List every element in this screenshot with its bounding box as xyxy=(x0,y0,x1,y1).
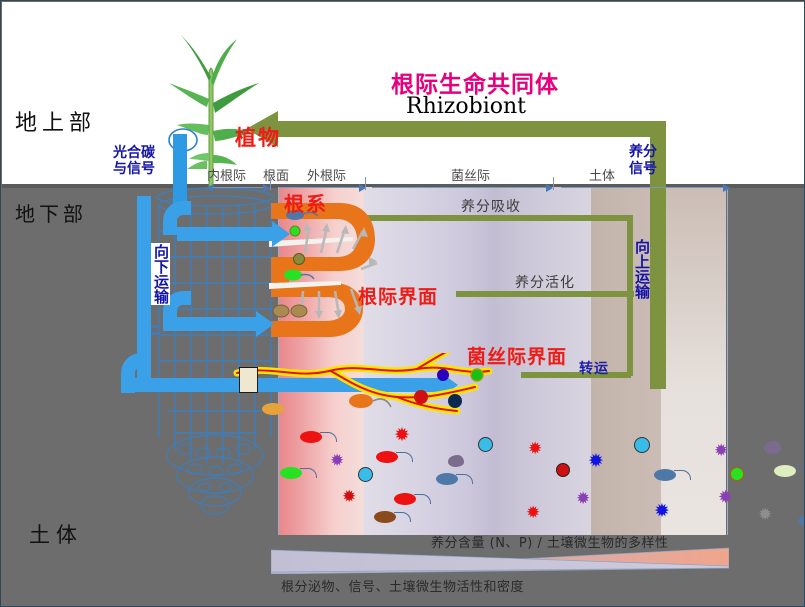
flagellum xyxy=(794,466,805,476)
star-microbe-icon: ✹ xyxy=(758,507,772,524)
coccus-microbe-icon xyxy=(478,437,493,452)
coccus-microbe-icon xyxy=(556,463,570,477)
bacterium-flagellum-icon xyxy=(436,473,458,485)
zone-label-rhizoplane: 根面 xyxy=(263,165,289,184)
bacterium-flagellum-icon xyxy=(654,469,676,481)
flagellum xyxy=(456,474,473,484)
carbon-flow-arrow-2 xyxy=(177,317,257,331)
bacterium-flagellum-icon xyxy=(300,431,322,443)
label-photosynthate-line2: 与信号 xyxy=(113,161,155,177)
label-hyphosphere-interface: 菌丝际界面 xyxy=(467,342,567,369)
label-exudate-gradient: 根分泌物、信号、土壤微生物活性和密度 xyxy=(281,576,524,595)
bacterium-body xyxy=(798,515,805,527)
label-root-system: 根系 xyxy=(284,188,328,217)
label-nutrient-uptake: 养分吸收 xyxy=(461,196,521,216)
star-microbe-icon: ✹ xyxy=(588,453,604,470)
label-nutrient-signal: 养分 信号 xyxy=(629,144,657,178)
bacterium-body xyxy=(654,469,676,481)
coccus-microbe-icon xyxy=(634,437,650,453)
coccus-microbe-icon xyxy=(730,467,744,481)
star-microbe-icon: ✹ xyxy=(718,489,733,506)
bacterium-body xyxy=(280,467,302,479)
label-photosynthate-line1: 光合碳 xyxy=(113,145,155,161)
zone-tick-1 xyxy=(270,177,271,190)
bacterium-flagellum-icon xyxy=(394,493,416,505)
label-bulk-soil: 土体 xyxy=(29,519,83,549)
star-microbe-icon: ✹ xyxy=(330,453,344,470)
bacterium-body xyxy=(394,493,416,505)
zone-label-bulksoil: 土体 xyxy=(589,165,615,184)
flagellum xyxy=(394,512,411,522)
bacterium-body xyxy=(376,451,398,463)
label-above-ground: 地上部 xyxy=(15,105,96,137)
label-plant: 植物 xyxy=(235,122,281,152)
flagellum xyxy=(396,452,413,462)
zone-tick-2 xyxy=(365,177,366,190)
bacterium-body xyxy=(300,431,322,443)
soil-microbe-field: ✹✹✹✹✹✹✹✹✹✹✹✹✹✹✹ xyxy=(278,419,726,535)
carbon-flow-arrow-1 xyxy=(177,227,273,241)
label-downward-transport: 向下运输 xyxy=(151,243,170,305)
amoeba-microbe-icon xyxy=(448,455,464,467)
label-photosynthate-signal: 光合碳 与信号 xyxy=(113,145,155,177)
zone-tick-3 xyxy=(553,177,554,190)
page-title-en: Rhizobiont xyxy=(406,94,526,119)
star-microbe-icon: ✹ xyxy=(528,441,542,458)
nutrient-riser-b xyxy=(627,291,633,376)
star-microbe-icon: ✹ xyxy=(576,491,590,508)
star-microbe-icon: ✹ xyxy=(394,427,410,444)
label-below-ground: 地下部 xyxy=(15,198,87,227)
bacterium-body xyxy=(374,511,396,523)
flagellum xyxy=(300,468,317,478)
star-microbe-icon: ✹ xyxy=(526,505,540,522)
rhizosphere-interface-shape xyxy=(269,197,379,347)
star-microbe-icon: ✹ xyxy=(714,443,728,460)
amoeba-microbe-icon xyxy=(764,441,781,454)
zone-label-ectorhizosphere: 外根际 xyxy=(307,165,346,184)
fungal-spore-icon xyxy=(239,367,258,393)
label-nutrient-signal-line2: 信号 xyxy=(629,161,657,178)
flagellum xyxy=(414,494,431,504)
zone-arrow-bulksoil xyxy=(561,187,729,188)
nutrient-return-arrow-shaft xyxy=(276,121,666,137)
star-microbe-icon: ✹ xyxy=(654,503,670,520)
zone-arrow-endorhizosphere xyxy=(207,187,269,188)
label-rhizosphere-interface: 根际界面 xyxy=(358,282,438,309)
zone-arrow-hyphosphere xyxy=(372,187,552,188)
bacterium-flagellum-icon xyxy=(374,511,396,523)
coccus-microbe-icon xyxy=(358,467,373,482)
bacterium-flagellum-icon xyxy=(376,451,398,463)
flagellum xyxy=(674,470,691,480)
star-microbe-icon: ✹ xyxy=(342,489,356,506)
gradient-wedges xyxy=(271,544,729,574)
bacterium-flagellum-icon xyxy=(798,515,805,527)
label-nutrient-signal-line1: 养分 xyxy=(629,144,657,161)
label-nutrient-activation: 养分活化 xyxy=(515,272,575,292)
flagellum xyxy=(320,432,337,442)
diagram-canvas: ✹✹✹✹✹✹✹✹✹✹✹✹✹✹✹ 内根际 根面 外根际 菌丝际 土体 地上部 地下… xyxy=(0,0,805,607)
label-upward-transport: 向上运输 xyxy=(633,239,650,299)
bacterium-flagellum-icon xyxy=(280,467,302,479)
bacterium-flagellum-icon xyxy=(774,465,796,477)
zone-label-hyphosphere: 菌丝际 xyxy=(451,165,490,184)
bacterium-body xyxy=(774,465,796,477)
bacterium-body xyxy=(436,473,458,485)
zone-label-endorhizosphere: 内根际 xyxy=(207,165,246,184)
label-translocation: 转运 xyxy=(579,358,609,378)
